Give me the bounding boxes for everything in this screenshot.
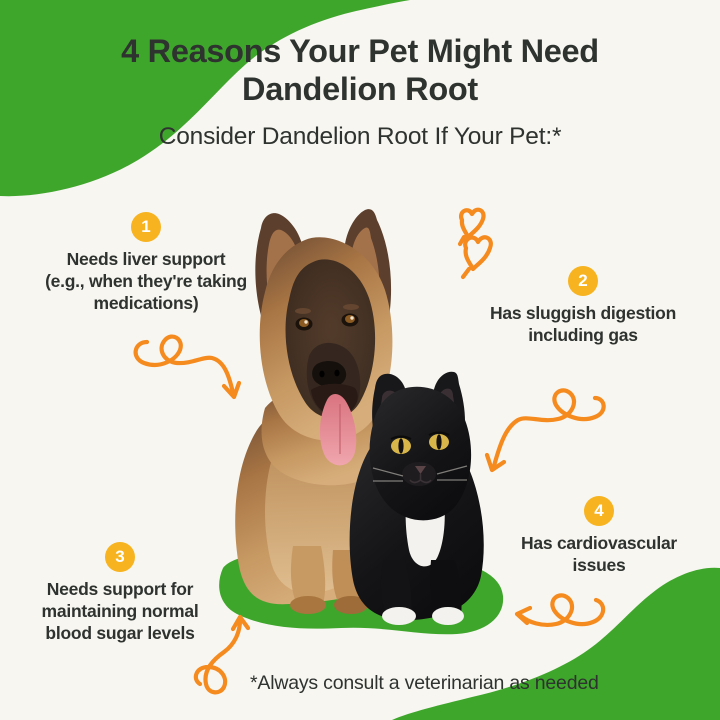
reason-text-1: Needs liver support (e.g., when they're … [6,249,286,315]
reason-text-4: Has cardiovascular issues [482,533,716,577]
cat-left-paw [382,607,416,625]
reason-text-2: Has sluggish digestion including gas [452,303,714,347]
page-title-line-2: Dandelion Root [242,71,478,107]
cat-right-paw [432,607,464,625]
reason-item-2: 2 Has sluggish digestion including gas [452,266,714,347]
reason-item-1: 1 Needs liver support (e.g., when they'r… [6,212,286,315]
reason-badge-3: 3 [105,542,135,572]
page-title: 4 Reasons Your Pet Might Need Dandelion … [0,32,720,109]
headline-block: 4 Reasons Your Pet Might Need Dandelion … [0,32,720,151]
reason-item-3: 3 Needs support for maintaining normal b… [4,542,236,645]
reason-item-4: 4 Has cardiovascular issues [482,496,716,577]
infographic-poster: 4 Reasons Your Pet Might Need Dandelion … [0,0,720,720]
page-title-line-1: 4 Reasons Your Pet Might Need [121,33,599,69]
reason-badge-2: 2 [568,266,598,296]
reason-badge-4: 4 [584,496,614,526]
orange-curly-arrow-4 [517,595,603,625]
reason-text-3: Needs support for maintaining normal blo… [4,579,236,645]
dog-nose [312,361,346,387]
page-subtitle: Consider Dandelion Root If Your Pet:* [0,123,720,151]
reason-badge-1: 1 [131,212,161,242]
footnote-disclaimer: *Always consult a veterinarian as needed [250,672,599,695]
